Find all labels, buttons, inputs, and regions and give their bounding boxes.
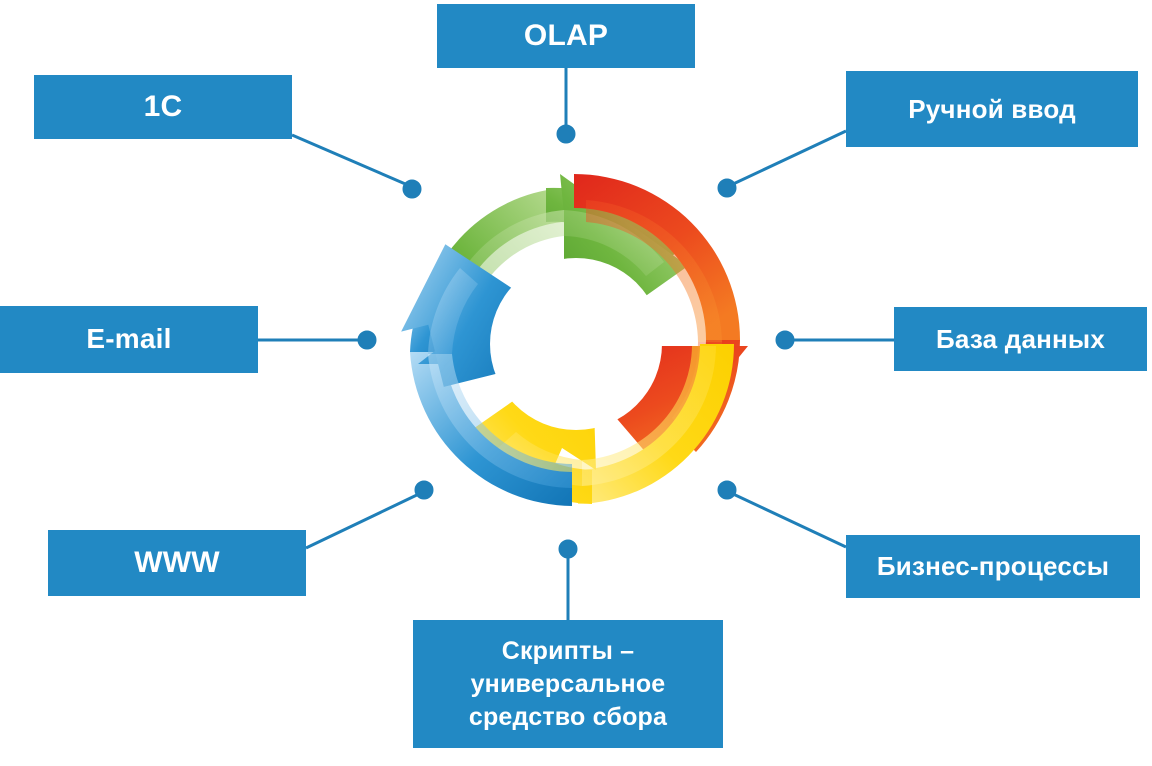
label-box-database[interactable]: База данных [894, 307, 1147, 371]
label-box-email[interactable]: E-mail [0, 306, 258, 373]
label-text-1c: 1C [34, 87, 292, 127]
label-box-business-processes[interactable]: Бизнес-процессы [846, 535, 1140, 598]
diagram-canvas: OLAP Ручной ввод База данных Бизнес-проц… [0, 0, 1152, 766]
connector-dot-scripts [560, 541, 576, 557]
label-text-business-processes: Бизнес-процессы [846, 549, 1140, 583]
label-box-www[interactable]: WWW [48, 530, 306, 596]
label-text-olap: OLAP [437, 16, 695, 56]
label-text-email: E-mail [0, 321, 258, 358]
label-text-scripts: Скрипты – универсальное средство сбора [413, 635, 723, 734]
label-box-1c[interactable]: 1C [34, 75, 292, 139]
label-text-database: База данных [894, 322, 1147, 356]
label-text-manual-input: Ручной ввод [846, 92, 1138, 126]
label-box-olap[interactable]: OLAP [437, 4, 695, 68]
four-arrow-cycle-icon [396, 166, 756, 514]
connector-1c [292, 135, 410, 186]
connector-dot-email [359, 332, 375, 348]
connector-dot-olap [558, 126, 574, 142]
label-text-scripts-line1: Скрипты – [502, 637, 635, 665]
connector-dot-database [777, 332, 793, 348]
cycle-center-hole [490, 258, 662, 430]
label-text-scripts-line3: средство сбора [469, 703, 667, 731]
label-text-www: WWW [48, 543, 306, 583]
label-text-scripts-line2: универсальное [471, 670, 666, 698]
label-box-scripts[interactable]: Скрипты – универсальное средство сбора [413, 620, 723, 748]
label-box-manual-input[interactable]: Ручной ввод [846, 71, 1138, 147]
